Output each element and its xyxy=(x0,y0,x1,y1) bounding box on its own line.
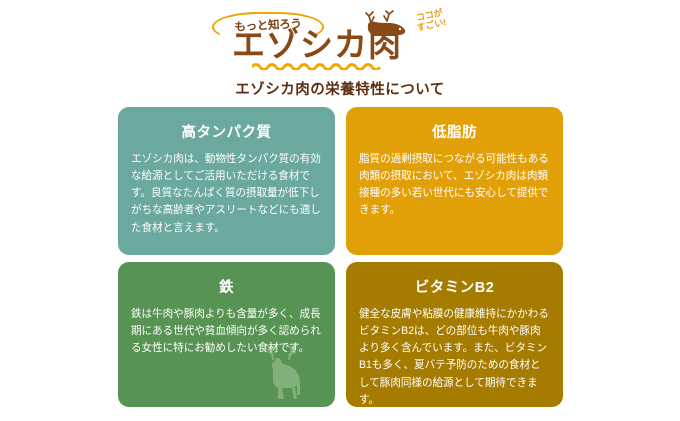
card-body: 健全な皮膚や粘膜の健康維持にかかわるビタミンB2は、どの部位も牛肉や豚肉より多く… xyxy=(359,306,550,407)
brand-logo: もっと知ろう エゾシカ肉 ココが すごい! xyxy=(0,8,680,70)
card-body: 鉄は牛肉や豚肉よりも含量が多く、成長期にある世代や貧血傾向が多く認められる女性に… xyxy=(131,306,322,357)
card-title: 高タンパク質 xyxy=(131,121,322,142)
card-iron: 鉄 鉄は牛肉や豚肉よりも含量が多く、成長期にある世代や貧血傾向が多く認められる女… xyxy=(118,262,335,407)
card-low-fat: 低脂肪 脂質の過剰摂取につながる可能性もある肉類の摂取において、エゾシカ肉は肉類… xyxy=(346,107,563,255)
wavy-underline-icon xyxy=(252,62,382,70)
card-title: 鉄 xyxy=(131,276,322,297)
card-title: 低脂肪 xyxy=(359,121,550,142)
card-title: ビタミンB2 xyxy=(359,276,550,297)
card-body: 脂質の過剰摂取につながる可能性もある肉類の摂取において、エゾシカ肉は肉類接種の多… xyxy=(359,151,550,220)
nutrition-card-grid: 高タンパク質 エゾシカ肉は、動物性タンパク質の有効な給源としてご活用いただける食… xyxy=(118,107,563,407)
page-subtitle: エゾシカ肉の栄養特性について xyxy=(0,78,680,99)
card-high-protein: 高タンパク質 エゾシカ肉は、動物性タンパク質の有効な給源としてご活用いただける食… xyxy=(118,107,335,255)
page-header: もっと知ろう エゾシカ肉 ココが すごい! エゾシカ肉の栄養特性について xyxy=(0,0,680,100)
card-body: エゾシカ肉は、動物性タンパク質の有効な給源としてご活用いただける食材です。良質な… xyxy=(131,151,322,237)
card-vitamin-b2: ビタミンB2 健全な皮膚や粘膜の健康維持にかかわるビタミンB2は、どの部位も牛肉… xyxy=(346,262,563,407)
